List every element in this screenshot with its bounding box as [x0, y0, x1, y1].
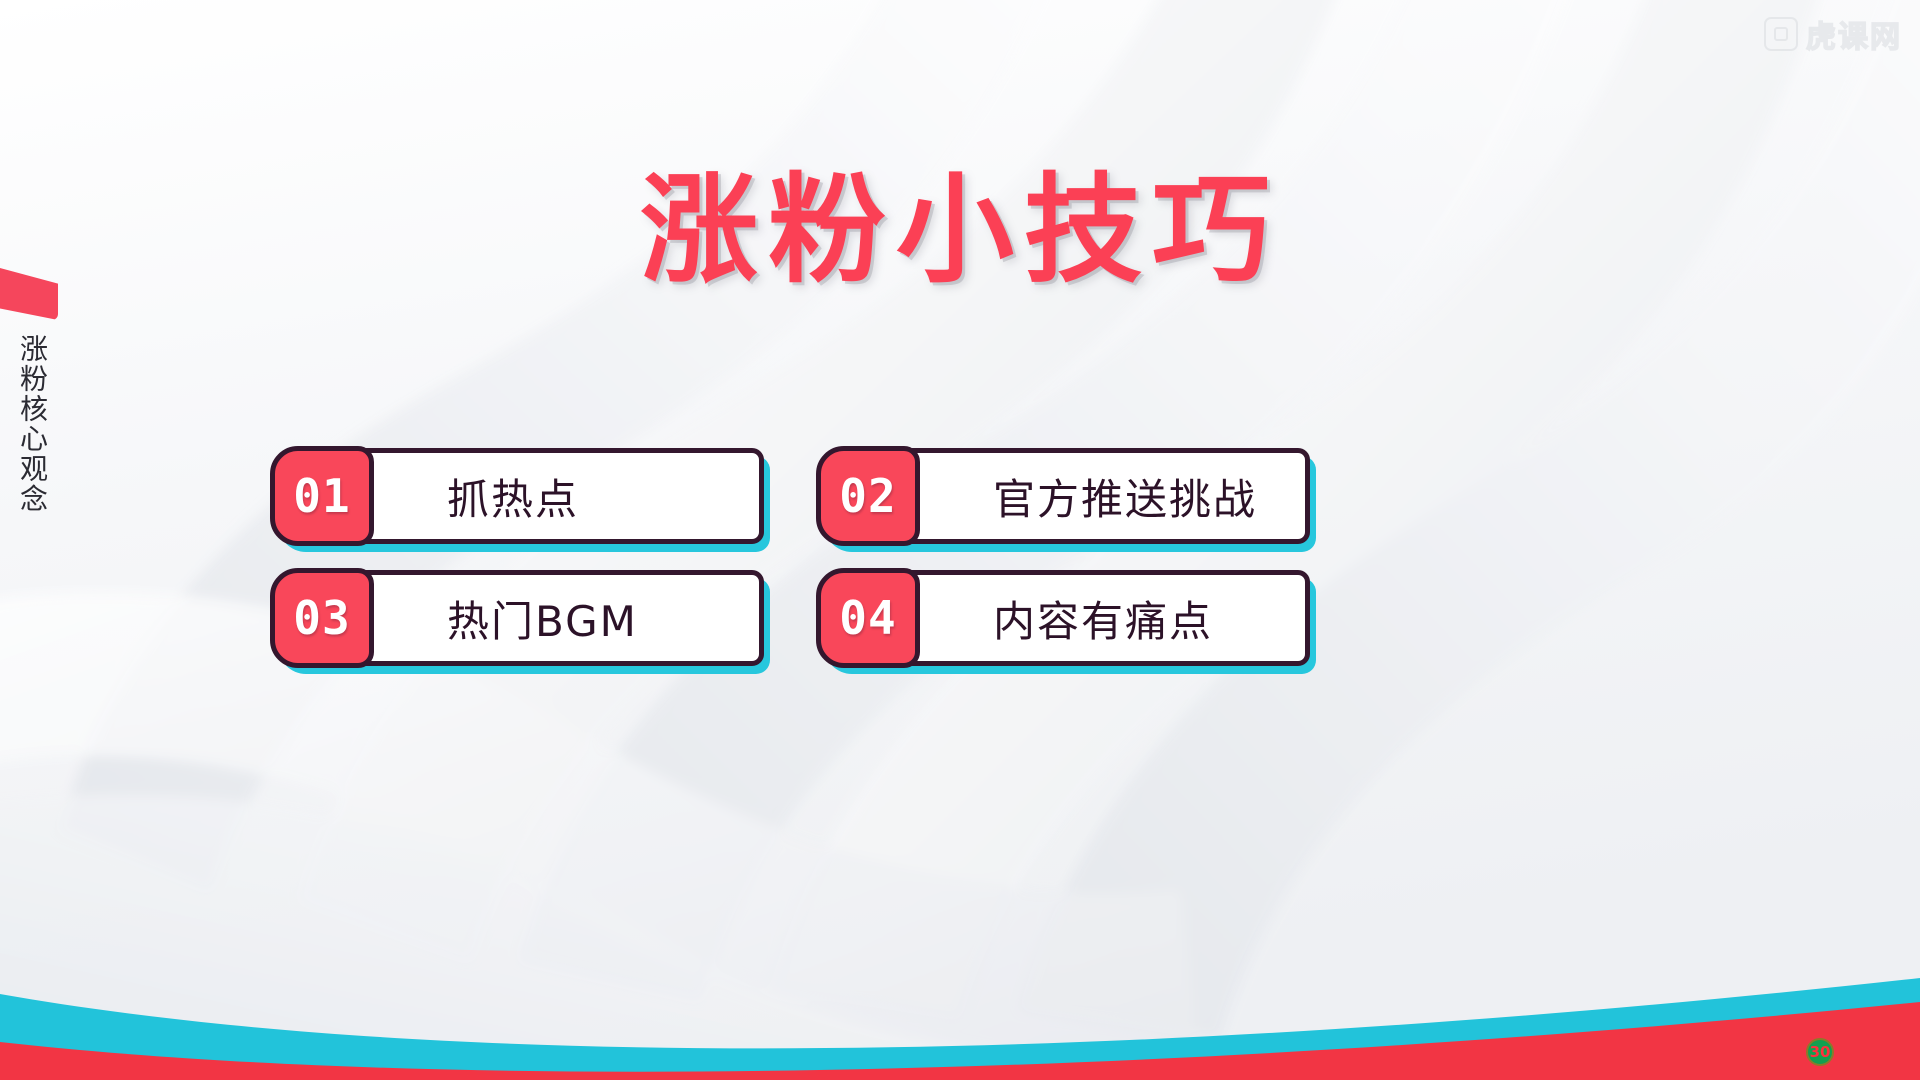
- item-label: 热门BGM: [447, 570, 638, 666]
- list-item[interactable]: 02 官方推送挑战: [818, 448, 1310, 548]
- tips-list: 01 抓热点 02 官方推送挑战 03 热门BGM 04 内容有痛点: [272, 448, 1312, 670]
- item-label: 抓热点: [447, 448, 579, 544]
- side-tab: 涨粉核心观念: [0, 268, 60, 578]
- side-tab-label: 涨粉核心观念: [6, 334, 52, 514]
- list-item[interactable]: 01 抓热点: [272, 448, 764, 548]
- page-title: 涨粉小技巧: [0, 167, 1920, 294]
- item-number-badge: 03: [270, 568, 374, 668]
- item-label: 官方推送挑战: [993, 448, 1257, 544]
- list-item[interactable]: 03 热门BGM: [272, 570, 764, 670]
- list-item[interactable]: 04 内容有痛点: [818, 570, 1310, 670]
- slide-root: 虎课网 涨粉小技巧 涨粉核心观念 01 抓热点 02 官方推送挑战 03 热门B…: [0, 0, 1920, 1080]
- side-tab-ribbon: [0, 268, 58, 320]
- item-label: 内容有痛点: [993, 570, 1213, 666]
- page-number-badge: 30: [1806, 1038, 1834, 1066]
- item-number-badge: 02: [816, 446, 920, 546]
- bottom-wave-decoration: [0, 950, 1920, 1080]
- item-number-badge: 01: [270, 446, 374, 546]
- item-number-badge: 04: [816, 568, 920, 668]
